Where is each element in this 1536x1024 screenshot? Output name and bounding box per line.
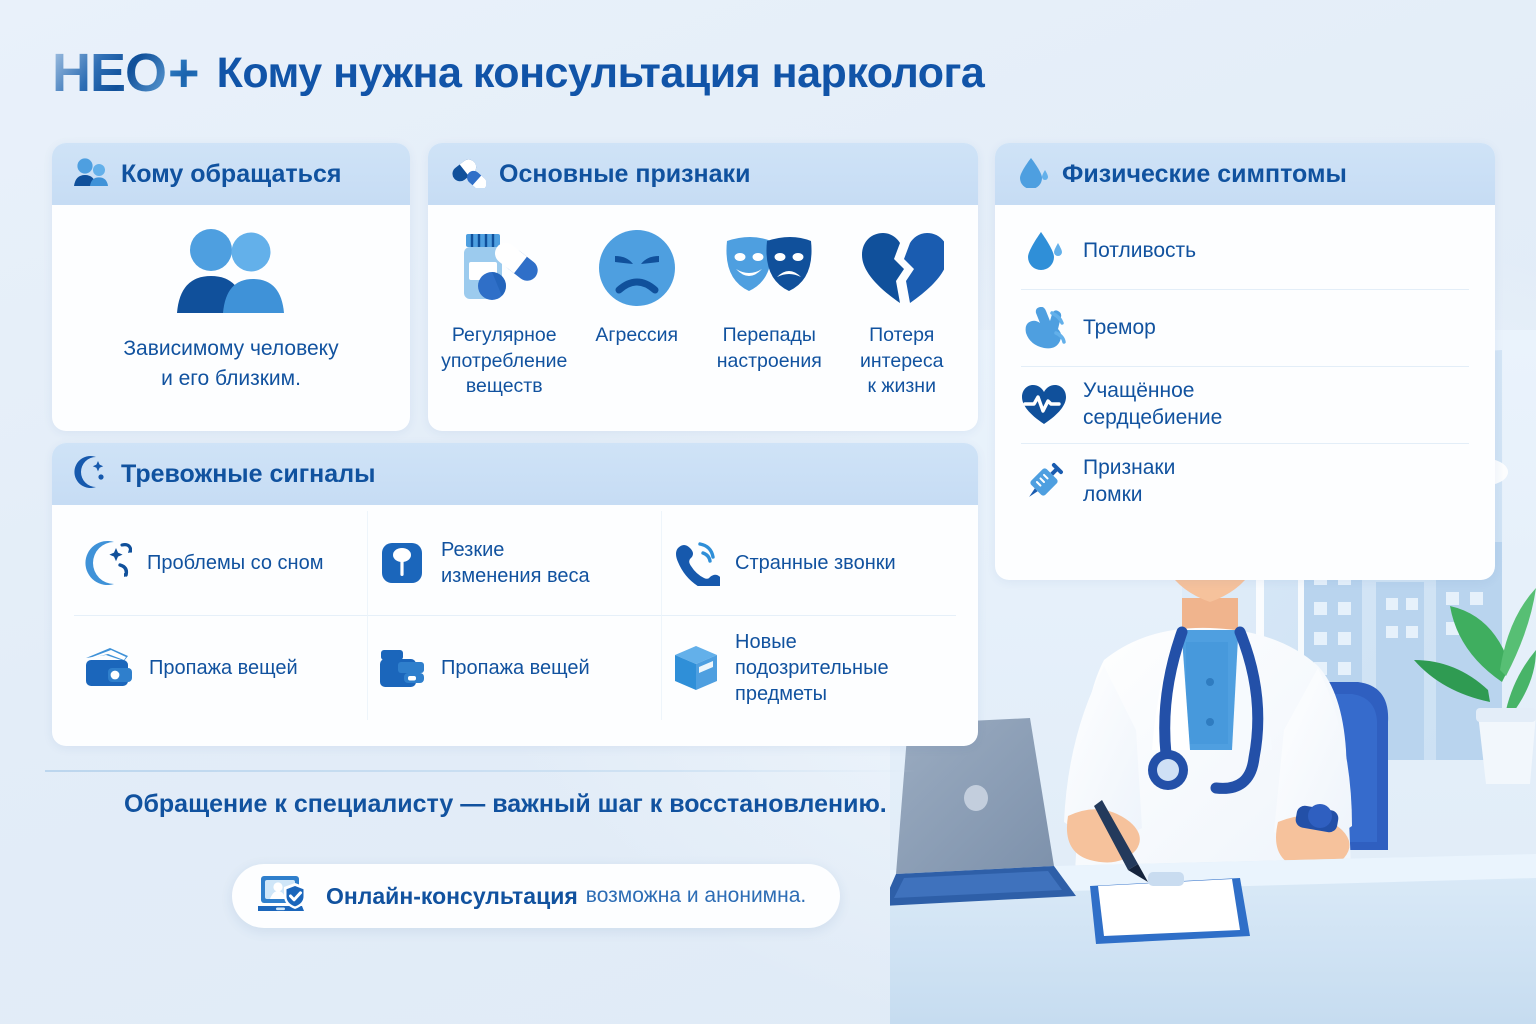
sign-item: Перепады настроения xyxy=(703,225,836,400)
pills-icon xyxy=(450,156,486,193)
alert-item: Странные звонки xyxy=(662,511,956,616)
card-title: Физические симптомы xyxy=(1062,160,1347,189)
alert-item: Пропажа вещей xyxy=(368,616,662,720)
wallet-open-icon xyxy=(84,646,134,690)
broken-heart-icon xyxy=(860,225,944,311)
card-title: Тревожные сигналы xyxy=(121,460,375,489)
infographic-canvas: НЕО+ Кому нужна консультация нарколога К… xyxy=(0,0,1536,1024)
sign-item: Потеря интереса к жизни xyxy=(836,225,969,400)
physical-symptom-row: Тремор xyxy=(1021,290,1469,367)
card-body-text: Зависимому человеку и его близким. xyxy=(123,334,338,395)
online-consultation-badge[interactable]: Онлайн-консультация возможна и анонимна. xyxy=(232,864,840,928)
laptop-shield-check-icon xyxy=(258,873,312,920)
alert-label: Проблемы со сном xyxy=(147,550,323,576)
card-header: Кому обращаться xyxy=(52,143,410,205)
physical-symptom-label: Признаки ломки xyxy=(1083,455,1175,509)
header: НЕО+ Кому нужна консультация нарколога xyxy=(52,36,984,110)
two-people-large-icon xyxy=(171,227,291,318)
theater-masks-icon xyxy=(721,225,817,311)
physical-symptom-row: Потливость xyxy=(1021,213,1469,290)
sign-label: Агрессия xyxy=(595,323,678,349)
who-text-line-1: Зависимому человеку xyxy=(123,334,338,364)
card-body: Зависимому человеку и его близким. xyxy=(52,205,410,395)
physical-symptom-label: Учащённое сердцебиение xyxy=(1083,378,1222,432)
badge-bold-text: Онлайн-консультация xyxy=(326,883,578,910)
pill-bottle-icon xyxy=(458,225,550,311)
alert-label: Пропажа вещей xyxy=(441,655,590,681)
who-text-line-2: и его близким. xyxy=(123,364,338,394)
card-header: Основные признаки xyxy=(428,143,978,205)
physical-symptom-row: Учащённое сердцебиение xyxy=(1021,367,1469,444)
shaking-hand-icon xyxy=(1021,307,1067,349)
card-alert-signals: Тревожные сигналы xyxy=(52,443,978,746)
card-physical-symptoms: Физические симптомы Потливость xyxy=(995,143,1495,580)
sign-label: Регулярное употребление веществ xyxy=(441,323,567,400)
footer-note: Обращение к специалисту — важный шаг к в… xyxy=(124,790,887,819)
syringe-icon xyxy=(1021,459,1067,505)
card-header: Физические симптомы xyxy=(995,143,1495,205)
alert-label: Резкие изменения веса xyxy=(441,537,590,589)
wallet-closed-icon xyxy=(378,646,426,690)
sign-item: Регулярное употребление веществ xyxy=(438,225,571,400)
alert-label: Странные звонки xyxy=(735,550,896,576)
card-title: Кому обращаться xyxy=(121,160,342,189)
alert-item: Пропажа вещей xyxy=(74,616,368,720)
physical-symptom-label: Потливость xyxy=(1083,238,1196,265)
card-body: Регулярное употребление веществ xyxy=(428,205,978,400)
card-who-to-contact: Кому обращаться Зависимому человеку и ег… xyxy=(52,143,410,431)
sign-item: Агрессия xyxy=(571,225,704,400)
phone-call-icon xyxy=(672,540,720,586)
two-people-icon xyxy=(74,157,108,192)
page-title: Кому нужна консультация нарколога xyxy=(217,49,985,98)
alert-label: Пропажа вещей xyxy=(149,655,298,681)
logo-text: НЕО xyxy=(52,46,166,100)
footer-divider xyxy=(45,770,917,772)
water-drop-icon xyxy=(1021,229,1067,273)
weight-scale-icon xyxy=(378,540,426,586)
card-title: Основные признаки xyxy=(499,160,750,189)
suspicious-box-icon xyxy=(672,644,720,692)
alert-item: Новые подозрительные предметы xyxy=(662,616,956,720)
moon-sleep-icon xyxy=(84,539,132,587)
logo-plus-icon: + xyxy=(168,46,199,100)
card-body: Потливость Тремор xyxy=(995,205,1495,520)
angry-face-icon xyxy=(597,225,677,311)
brand-logo: НЕО+ xyxy=(52,46,199,100)
card-header: Тревожные сигналы xyxy=(52,443,978,505)
heart-pulse-icon xyxy=(1021,384,1067,426)
water-drop-icon xyxy=(1017,156,1049,193)
alert-label: Новые подозрительные предметы xyxy=(735,629,889,707)
sign-label: Потеря интереса к жизни xyxy=(860,323,944,400)
badge-rest-text: возможна и анонимна. xyxy=(586,884,806,908)
physical-symptom-row: Признаки ломки xyxy=(1021,444,1469,520)
moon-stars-icon xyxy=(74,455,108,494)
physical-symptom-label: Тремор xyxy=(1083,315,1156,342)
sign-label: Перепады настроения xyxy=(717,323,822,374)
card-main-signs: Основные признаки xyxy=(428,143,978,431)
card-body: Проблемы со сном Резкие изменения веса xyxy=(52,505,978,720)
alert-item: Проблемы со сном xyxy=(74,511,368,616)
alert-item: Резкие изменения веса xyxy=(368,511,662,616)
